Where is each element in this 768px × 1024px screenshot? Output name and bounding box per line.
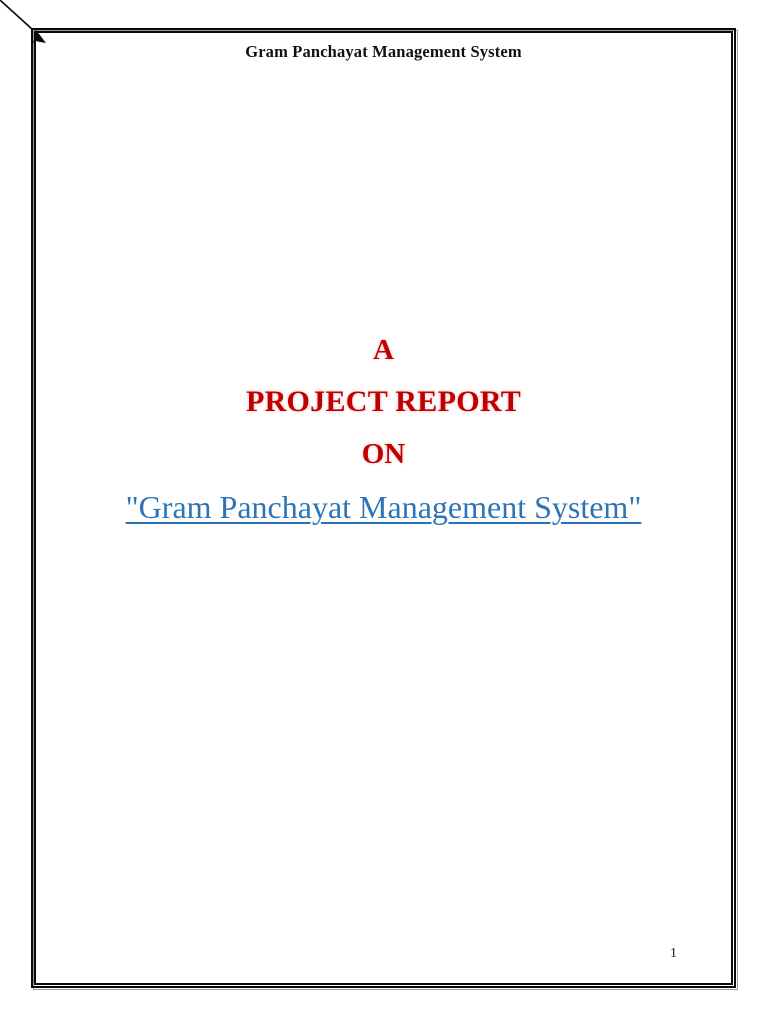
document-header: Gram Panchayat Management System (46, 42, 721, 62)
page-number: 1 (46, 946, 677, 962)
cover-line-a: A (46, 336, 721, 365)
cover-title-block: A PROJECT REPORT ON "Gram Panchayat Mana… (46, 336, 721, 526)
cover-line-on: ON (46, 440, 721, 469)
document-page: Gram Panchayat Management System A PROJE… (0, 0, 768, 1024)
annotation-leader-line (0, 0, 33, 30)
header-title: Gram Panchayat Management System (46, 42, 721, 62)
cover-line-project-report: PROJECT REPORT (46, 387, 721, 417)
cover-project-subject: "Gram Panchayat Management System" (46, 489, 721, 526)
arrow-cursor-icon (33, 30, 46, 44)
